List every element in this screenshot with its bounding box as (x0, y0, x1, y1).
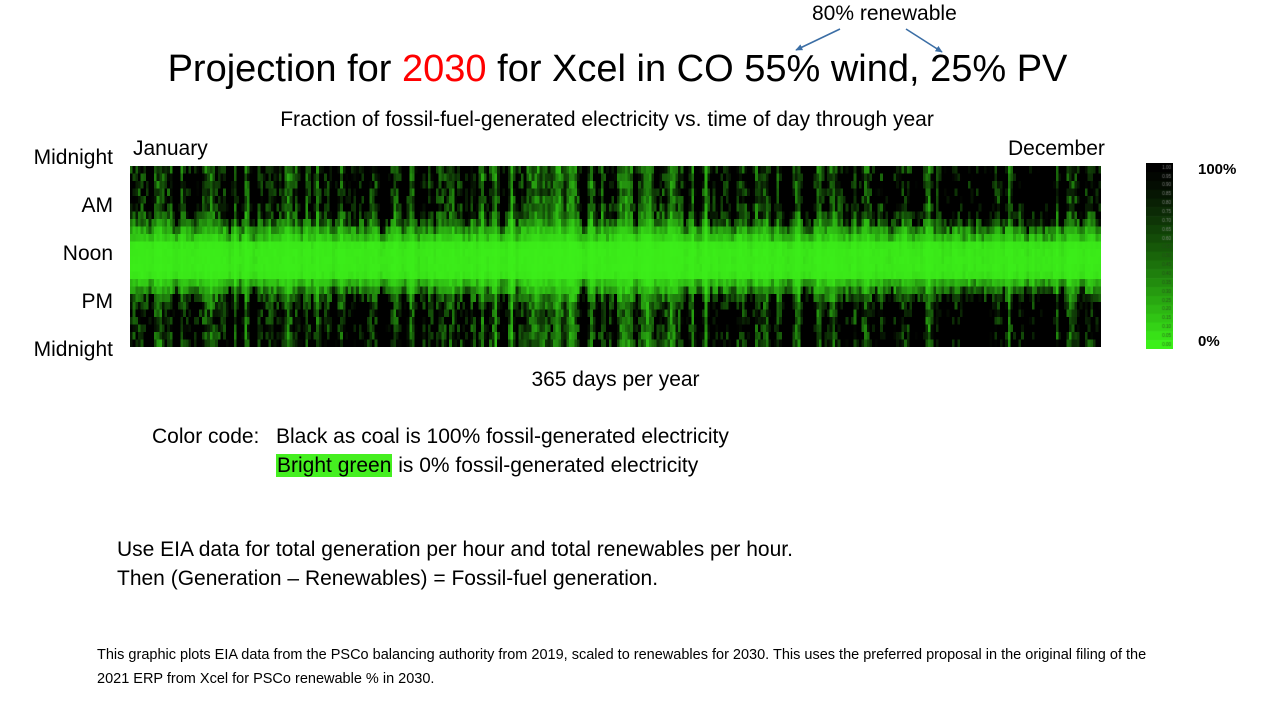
y-axis-tick-group: Midnight AM Noon PM Midnight (0, 146, 113, 366)
callout-label-80-renewable: 80% renewable (812, 2, 957, 26)
title-part-after: for Xcel in CO 55% wind, 25% PV (487, 48, 1068, 90)
method-notes: Use EIA data for total generation per ho… (117, 535, 793, 593)
color-code-black-text: Black as coal is 100% fossil-generated e… (276, 425, 729, 448)
colorbar-image (1146, 163, 1173, 349)
colorbar-gradient (1146, 163, 1173, 349)
color-code-line-green: Bright green is 0% fossil-generated elec… (152, 451, 729, 480)
y-tick-midnight-top: Midnight (0, 146, 113, 170)
color-code-green-text: is 0% fossil-generated electricity (392, 454, 698, 477)
method-line-2: Then (Generation – Renewables) = Fossil-… (117, 564, 793, 593)
x-axis-label: 365 days per year (130, 367, 1101, 393)
chart-subtitle: Fraction of fossil-fuel-generated electr… (0, 107, 1214, 133)
color-code-legend: Color code:Black as coal is 100% fossil-… (152, 422, 729, 480)
page-title: Projection for 2030 for Xcel in CO 55% w… (0, 46, 1235, 92)
slide-canvas: 80% renewable Projection for 2030 for Xc… (0, 0, 1280, 720)
y-tick-pm: PM (0, 290, 113, 314)
y-tick-am: AM (0, 194, 113, 218)
colorbar-max-label: 100% (1198, 161, 1236, 178)
method-line-1: Use EIA data for total generation per ho… (117, 535, 793, 564)
colorbar-min-label: 0% (1198, 333, 1220, 350)
y-tick-midnight-bottom: Midnight (0, 338, 113, 362)
title-part-before: Projection for (168, 48, 402, 90)
color-code-green-highlight: Bright green (276, 454, 392, 477)
heatmap-plot-area (130, 166, 1101, 347)
heatmap-image (130, 166, 1101, 347)
color-code-key-label: Color code: (152, 422, 276, 451)
colorbar-group: 100% 0% (1146, 163, 1266, 349)
y-tick-noon: Noon (0, 242, 113, 266)
color-code-line-black: Color code:Black as coal is 100% fossil-… (152, 422, 729, 451)
x-label-december: December (1008, 136, 1105, 162)
footnote: This graphic plots EIA data from the PSC… (97, 643, 1162, 691)
title-accent-year: 2030 (402, 48, 487, 90)
x-label-january: January (133, 136, 208, 162)
